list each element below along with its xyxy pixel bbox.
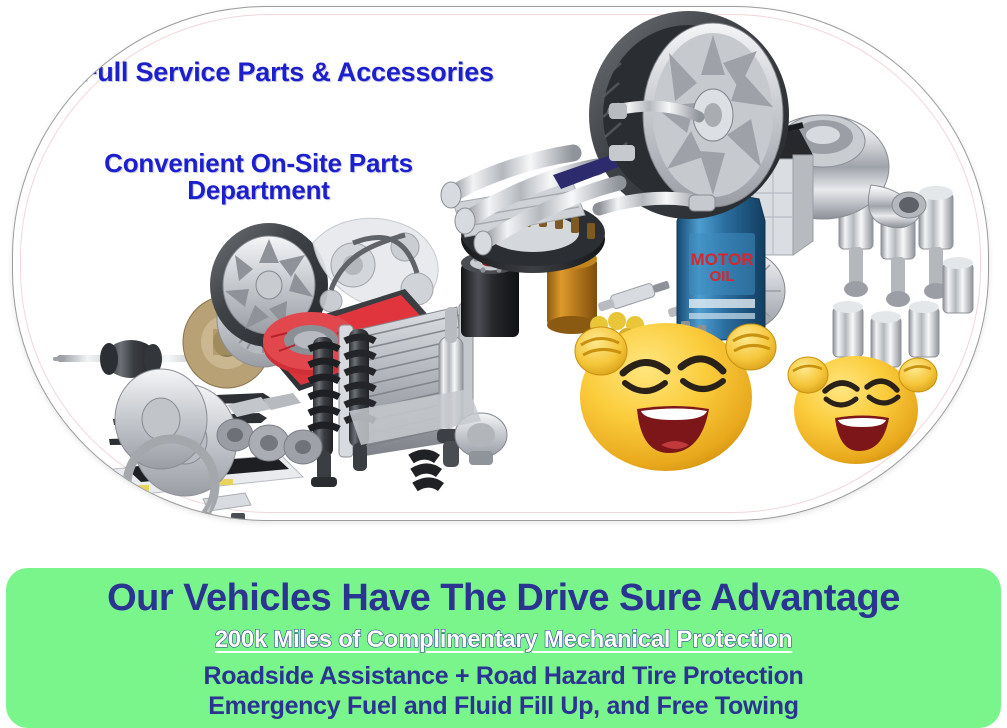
banner-benefit-line-1: Roadside Assistance + Road Hazard Tire P… — [6, 662, 1001, 691]
banner-benefit-line-2: Emergency Fuel and Fluid Fill Up, and Fr… — [6, 692, 1001, 721]
black-coil-spring-part — [411, 455, 441, 488]
svg-text:MOTOR: MOTOR — [691, 250, 754, 269]
serpentine-belt-pulley-assembly-part — [313, 218, 438, 312]
svg-text:OIL: OIL — [710, 268, 735, 285]
emoji-small-fist-left — [788, 357, 828, 393]
advertisement-canvas: MOTOR OIL — [0, 0, 1007, 725]
banner-subheadline-mileage-protection: 200k Miles of Complimentary Mechanical P… — [6, 626, 1001, 654]
headline-full-service-parts: Full Service Parts & Accessories — [81, 57, 494, 88]
laughing-emoji-large — [575, 323, 776, 471]
banner-headline: Our Vehicles Have The Drive Sure Advanta… — [6, 577, 1001, 620]
coil-over-strut-part-1 — [309, 337, 339, 487]
emoji-fist-right — [726, 324, 776, 370]
emoji-small-fist-right — [899, 358, 937, 392]
emoji-fist-left — [575, 327, 627, 375]
brake-rotor-secondary-part — [115, 369, 207, 469]
drive-sure-advantage-banner: Our Vehicles Have The Drive Sure Advanta… — [6, 568, 1001, 728]
parts-department-card: MOTOR OIL — [12, 6, 989, 521]
laughing-emoji-small — [788, 356, 937, 464]
headline-convenient-onsite-parts-department: Convenient On-Site Parts Department — [71, 150, 446, 204]
